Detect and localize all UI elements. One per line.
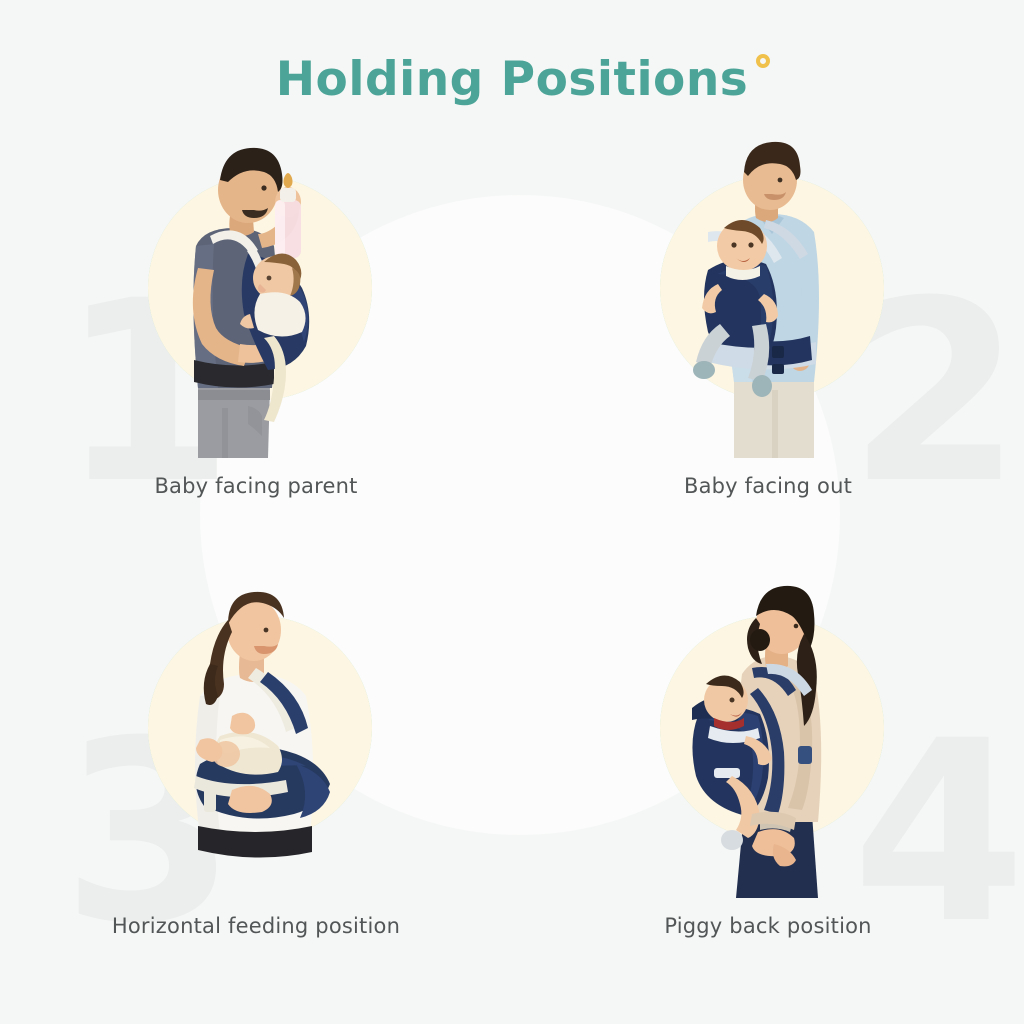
accent-dot-icon xyxy=(756,54,770,68)
photo-baby-facing-out xyxy=(648,128,888,458)
position-card-4[interactable]: Piggy back position xyxy=(512,568,1024,938)
position-figure-3 xyxy=(136,568,376,898)
positions-row-top: Baby facing parent xyxy=(0,128,1024,498)
position-caption-1: Baby facing parent xyxy=(154,474,357,498)
position-caption-4: Piggy back position xyxy=(664,914,871,938)
position-figure-2 xyxy=(648,128,888,458)
page-title-text: Holding Positions xyxy=(276,52,749,107)
holding-positions-infographic: 1 2 3 4 Holding Positions xyxy=(0,0,1024,1024)
position-caption-3: Horizontal feeding position xyxy=(112,914,400,938)
position-figure-1 xyxy=(136,128,376,458)
position-caption-2: Baby facing out xyxy=(684,474,852,498)
positions-grid: Baby facing parent xyxy=(0,128,1024,938)
photo-piggy-back xyxy=(648,568,888,898)
position-card-2[interactable]: Baby facing out xyxy=(512,128,1024,498)
photo-horizontal-feeding xyxy=(136,568,376,898)
position-card-3[interactable]: Horizontal feeding position xyxy=(0,568,512,938)
page-title-wrap: Holding Positions xyxy=(0,52,1024,107)
position-card-1[interactable]: Baby facing parent xyxy=(0,128,512,498)
positions-row-bottom: Horizontal feeding position xyxy=(0,568,1024,938)
photo-baby-facing-parent xyxy=(136,128,376,458)
position-figure-4 xyxy=(648,568,888,898)
page-title: Holding Positions xyxy=(276,52,749,107)
